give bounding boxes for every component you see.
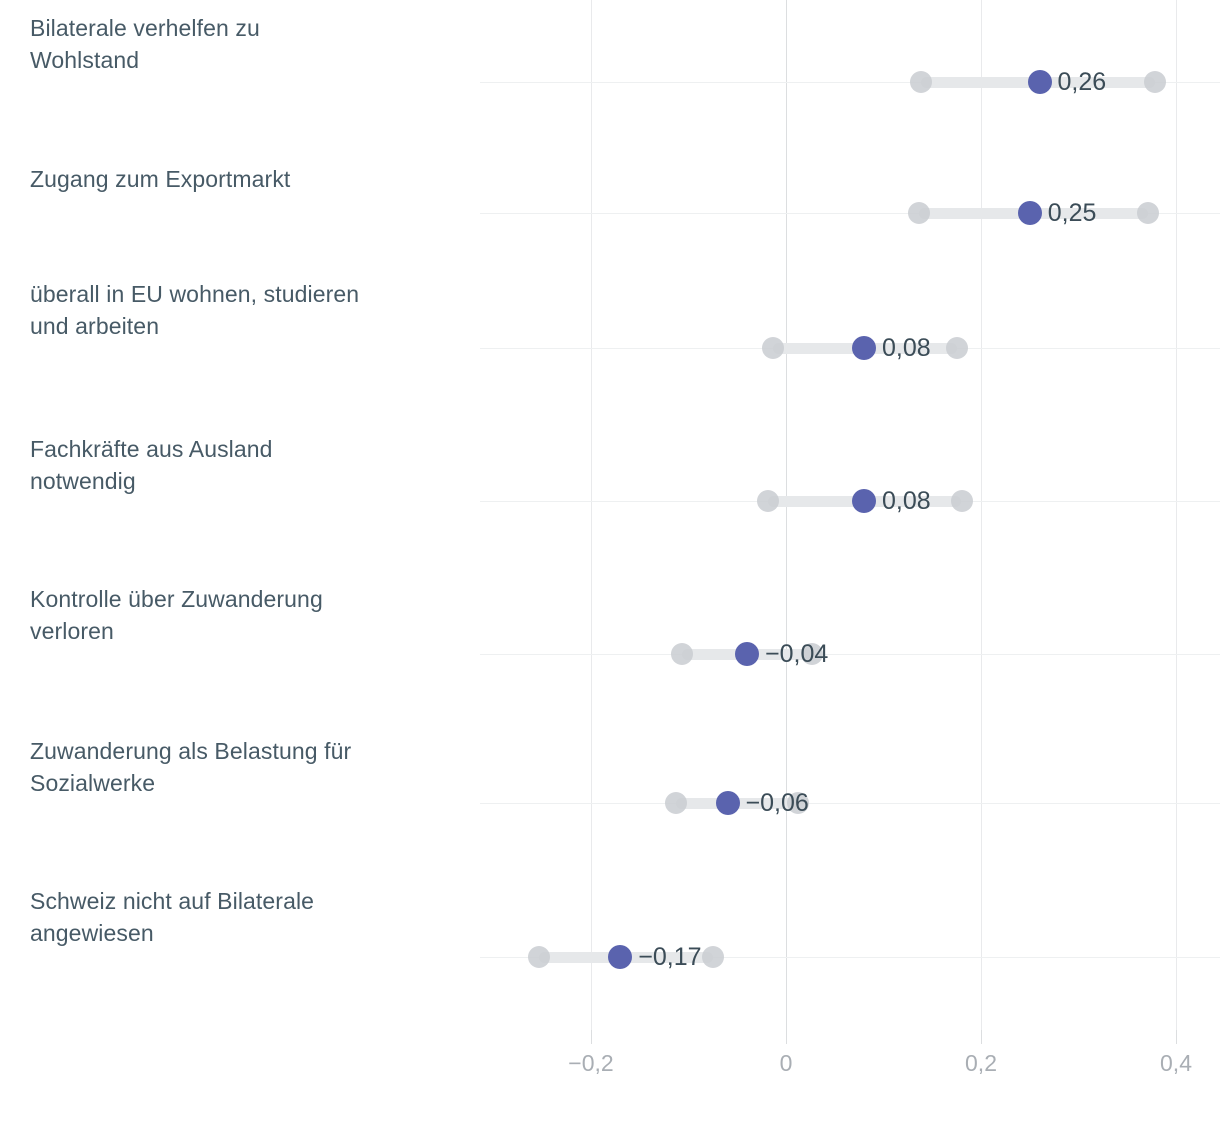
confidence-interval-endpoint-high [951, 490, 973, 512]
x-tick-mark [786, 1030, 787, 1044]
plot-area: 0,260,250,080,08−0,04−0,06−0,17 [480, 0, 1220, 1030]
value-label: −0,06 [746, 791, 809, 816]
gridline-0 [786, 0, 787, 1030]
x-tick-mark [591, 1030, 592, 1044]
data-point[interactable] [735, 642, 759, 666]
gridline-02-neg [591, 0, 592, 1030]
confidence-interval-endpoint-high [702, 946, 724, 968]
data-point[interactable] [608, 945, 632, 969]
value-label: −0,04 [765, 642, 828, 667]
x-tick-mark [981, 1030, 982, 1044]
confidence-interval-endpoint-low [671, 643, 693, 665]
data-point[interactable] [1018, 201, 1042, 225]
value-label: −0,17 [638, 945, 701, 970]
x-axis: −0,200,20,4 [480, 1030, 1220, 1090]
category-label: Zuwanderung als Belastung für Sozialwerk… [30, 735, 480, 799]
confidence-interval-endpoint-low [757, 490, 779, 512]
data-point[interactable] [716, 791, 740, 815]
category-label: Fachkräfte aus Ausland notwendig [30, 433, 480, 497]
value-label: 0,26 [1058, 70, 1107, 95]
value-label: 0,08 [882, 489, 931, 514]
data-point[interactable] [852, 489, 876, 513]
data-point[interactable] [1028, 70, 1052, 94]
row-baseline [480, 803, 1220, 804]
confidence-interval-endpoint-low [762, 337, 784, 359]
x-tick-label: −0,2 [568, 1050, 613, 1076]
x-tick-label: 0,4 [1160, 1050, 1192, 1076]
category-labels: Bilaterale verhelfen zu WohlstandZugang … [0, 0, 480, 1030]
value-label: 0,08 [882, 336, 931, 361]
dumbbell-chart: Bilaterale verhelfen zu WohlstandZugang … [0, 0, 1220, 1124]
confidence-interval-endpoint-low [665, 792, 687, 814]
confidence-interval-endpoint-high [1137, 202, 1159, 224]
confidence-interval-endpoint-high [1144, 71, 1166, 93]
confidence-interval-endpoint-low [528, 946, 550, 968]
confidence-interval-endpoint-high [946, 337, 968, 359]
x-tick-mark [1176, 1030, 1177, 1044]
x-tick-label: 0,2 [965, 1050, 997, 1076]
confidence-interval-endpoint-low [908, 202, 930, 224]
category-label: Schweiz nicht auf Bilaterale angewiesen [30, 885, 480, 949]
value-label: 0,25 [1048, 201, 1097, 226]
gridline-04 [1176, 0, 1177, 1030]
confidence-interval-endpoint-low [910, 71, 932, 93]
category-label: Zugang zum Exportmarkt [30, 163, 480, 195]
category-label: überall in EU wohnen, studieren und arbe… [30, 278, 480, 342]
row-baseline [480, 654, 1220, 655]
x-tick-label: 0 [780, 1050, 793, 1076]
category-label: Kontrolle über Zuwanderung verloren [30, 583, 480, 647]
gridline-02 [981, 0, 982, 1030]
data-point[interactable] [852, 336, 876, 360]
category-label: Bilaterale verhelfen zu Wohlstand [30, 12, 480, 76]
